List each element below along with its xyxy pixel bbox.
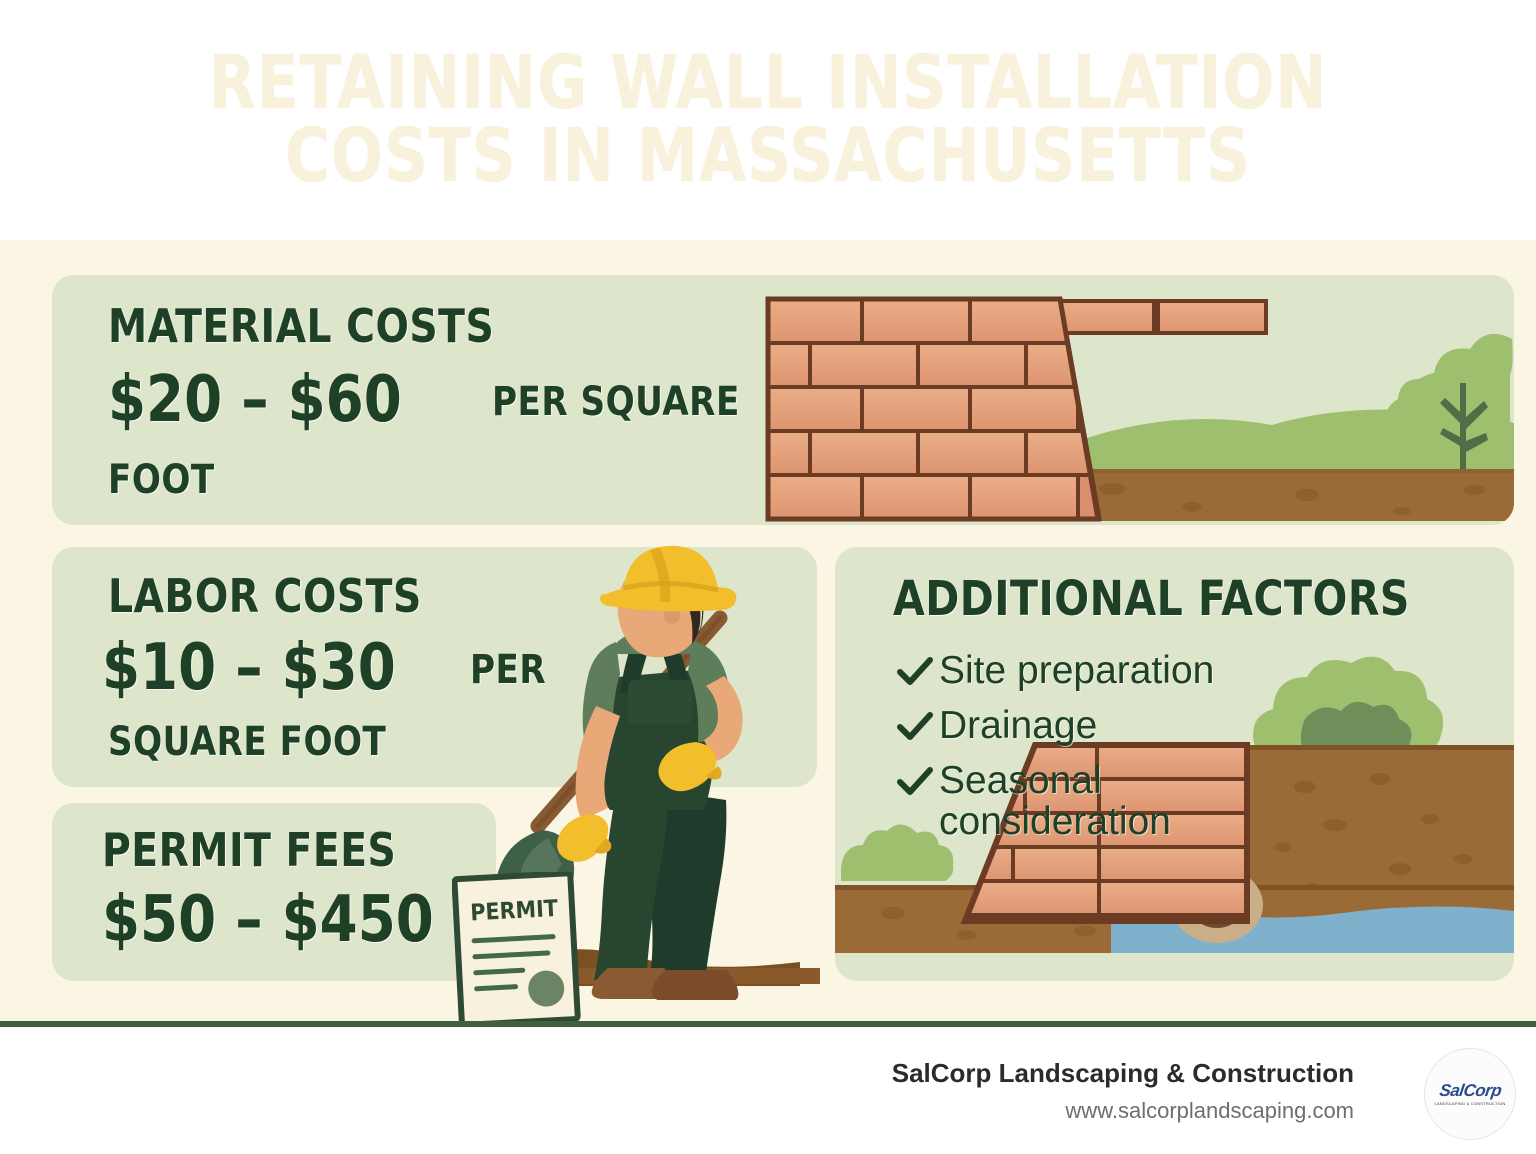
permit-fees-amount: $50 – $450	[102, 883, 434, 957]
brick-wall-body	[766, 297, 1266, 521]
additional-factors-heading: ADDITIONAL FACTORS	[893, 571, 1410, 627]
page-title-line-1: RETAINING WALL INSTALLATION	[209, 47, 1328, 120]
check-icon	[897, 706, 939, 742]
logo-subtext: LANDSCAPING & CONSTRUCTION	[1435, 1101, 1506, 1106]
material-costs-amount: $20 – $60	[108, 363, 402, 437]
drainage-water	[1111, 906, 1514, 953]
card-material-costs: MATERIAL COSTS $20 – $60 PER SQUARE FOOT	[52, 275, 1514, 525]
check-icon	[897, 651, 939, 687]
labor-costs-amount: $10 – $30	[102, 631, 396, 705]
material-costs-heading: MATERIAL COSTS	[108, 299, 494, 353]
check-icon	[897, 761, 939, 797]
bush-shape	[1386, 334, 1514, 470]
list-item: Drainage	[897, 706, 1337, 747]
list-item-label: Site preparation	[939, 651, 1214, 692]
soil-strip	[1052, 469, 1514, 521]
salcorp-logo-badge: SalCorp LANDSCAPING & CONSTRUCTION	[1424, 1048, 1516, 1140]
material-costs-unit-line1: PER SQUARE	[492, 379, 740, 425]
footer-company-name: SalCorp Landscaping & Construction	[892, 1058, 1354, 1089]
hard-hat	[600, 546, 736, 611]
additional-factors-list: Site preparation Drainage Seasonal consi…	[897, 651, 1337, 857]
page-title-line-2: COSTS IN MASSACHUSETTS	[285, 120, 1251, 193]
list-item-label: Seasonal consideration	[939, 761, 1337, 843]
footer-website-url[interactable]: www.salcorplandscaping.com	[1065, 1098, 1354, 1124]
permit-document-label: PERMIT	[470, 896, 559, 927]
logo-wordmark: SalCorp	[1433, 1082, 1506, 1099]
drainage-pipe	[1171, 867, 1263, 943]
footer-bar	[0, 1027, 1536, 1154]
title-band: RETAINING WALL INSTALLATION COSTS IN MAS…	[0, 0, 1536, 240]
card-additional-factors: ADDITIONAL FACTORS Site preparation Drai…	[835, 547, 1514, 981]
material-costs-unit-line2: FOOT	[108, 457, 215, 503]
labor-costs-unit-line2: SQUARE FOOT	[108, 719, 386, 765]
list-item-label: Drainage	[939, 706, 1097, 747]
permit-fees-heading: PERMIT FEES	[102, 823, 396, 877]
list-item: Seasonal consideration	[897, 761, 1337, 843]
ground-soil-strip	[835, 885, 1514, 953]
work-boots	[592, 968, 739, 1000]
list-item: Site preparation	[897, 651, 1337, 692]
permit-document-illustration: PERMIT	[452, 872, 584, 1022]
labor-costs-heading: LABOR COSTS	[108, 569, 422, 623]
